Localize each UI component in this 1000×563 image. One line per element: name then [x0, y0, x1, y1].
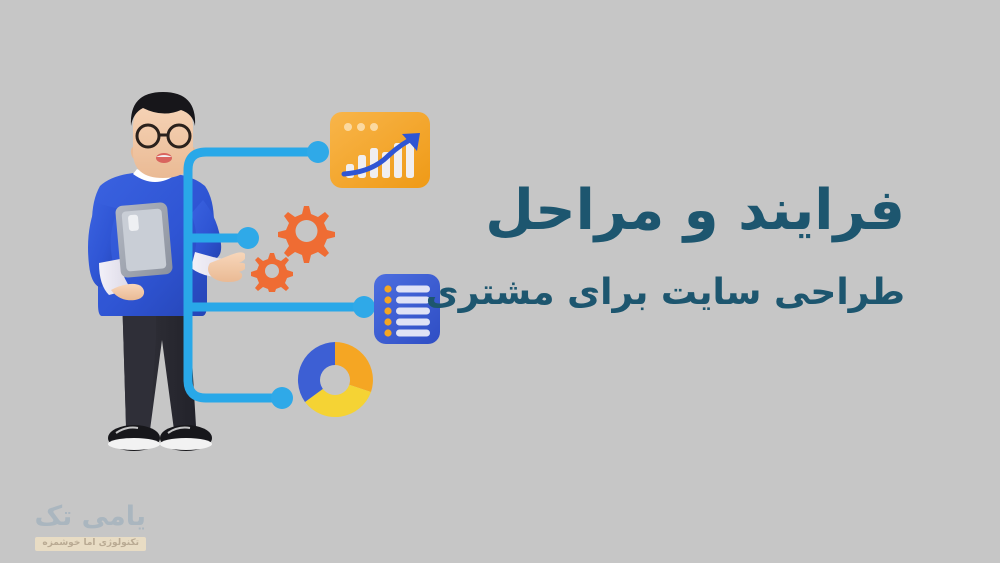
gears-icon — [248, 200, 338, 292]
character-right-arm — [191, 200, 245, 282]
presenter-character — [70, 78, 245, 473]
logo-wordmark: یامی تک — [16, 503, 146, 530]
gear-small — [251, 253, 293, 292]
brand-logo: یامی تک تکنولوژی اما خوشمزه — [16, 503, 146, 551]
logo-tagline: تکنولوژی اما خوشمزه — [35, 537, 146, 551]
page-title: فرایند و مراحل — [485, 178, 905, 244]
character-shoes — [108, 425, 212, 451]
banner-root: فرایند و مراحل طراحی سایت برای مشتری یام… — [0, 0, 1000, 563]
connector-dot-1 — [307, 141, 329, 163]
gear-large — [278, 206, 335, 263]
donut-hole — [320, 365, 350, 395]
headline-block: فرایند و مراحل طراحی سایت برای مشتری — [485, 178, 905, 315]
page-subtitle: طراحی سایت برای مشتری — [485, 270, 905, 315]
window-dots — [344, 123, 378, 131]
connector-dot-4 — [271, 387, 293, 409]
character-head — [131, 92, 195, 178]
character-tablet — [115, 202, 173, 278]
growth-chart-icon — [328, 110, 432, 190]
donut-chart-icon — [293, 338, 377, 422]
